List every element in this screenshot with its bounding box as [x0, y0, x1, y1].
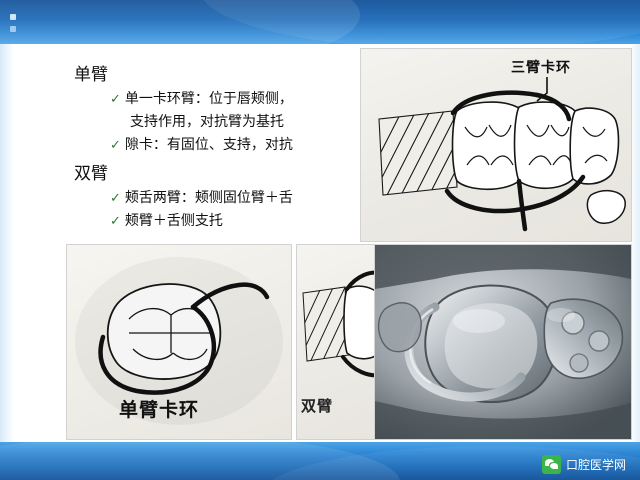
bullet-item-1: ✓ 单一卡环臂：位于唇颊侧，	[110, 88, 384, 111]
header-accent-dot-2	[10, 26, 16, 32]
green-leaf-logo-icon	[542, 455, 561, 474]
caption-three-arm-clasp: 三臂卡环	[511, 57, 571, 77]
bullet-item-1-continuation: 支持作用，对抗臂为基托	[130, 111, 384, 134]
heading-double-arm: 双臂	[74, 161, 384, 187]
header-accent-dot-1	[10, 14, 16, 20]
slide-text-block: 单臂 ✓ 单一卡环臂：位于唇颊侧， 支持作用，对抗臂为基托 ✓ 隙卡：有固位、支…	[74, 62, 384, 233]
bullet-item-3: ✓ 颊舌两臂：颊侧固位臂＋舌	[110, 187, 384, 210]
bullet-item-4-label: 颊臂＋舌侧支托	[125, 210, 223, 233]
bullet-item-4: ✓ 颊臂＋舌侧支托	[110, 210, 384, 233]
slide-canvas: 单臂 ✓ 单一卡环臂：位于唇颊侧， 支持作用，对抗臂为基托 ✓ 隙卡：有固位、支…	[0, 0, 640, 480]
image-single-arm-clasp: 单臂卡环	[66, 244, 292, 440]
image-middle-drawing: 双臂	[296, 244, 376, 440]
caption-middle-drawing: 双臂	[301, 395, 333, 416]
slide-header-band	[0, 0, 640, 44]
heading-single-arm: 单臂	[74, 62, 384, 88]
bullet-item-3-label: 颊舌两臂：颊侧固位臂＋舌	[125, 187, 293, 210]
bullet-item-1-label: 单一卡环臂：位于唇颊侧，	[125, 88, 293, 111]
watermark: 口腔医学网	[542, 455, 626, 474]
bullet-item-2-label: 隙卡：有固位、支持，对抗	[125, 134, 293, 157]
three-arm-clasp-drawing	[361, 49, 631, 241]
caption-single-arm-clasp: 单臂卡环	[119, 395, 199, 422]
left-gradient-edge	[0, 44, 14, 442]
check-icon: ✓	[110, 88, 121, 111]
image-three-arm-clasp: 三臂卡环	[360, 48, 632, 242]
cast-photo-illustration	[375, 245, 631, 439]
image-cast-photo	[374, 244, 632, 440]
check-icon: ✓	[110, 187, 121, 210]
check-icon: ✓	[110, 134, 121, 157]
bullet-item-2: ✓ 隙卡：有固位、支持，对抗	[110, 134, 384, 157]
watermark-label: 口腔医学网	[566, 456, 626, 473]
check-icon: ✓	[110, 210, 121, 233]
